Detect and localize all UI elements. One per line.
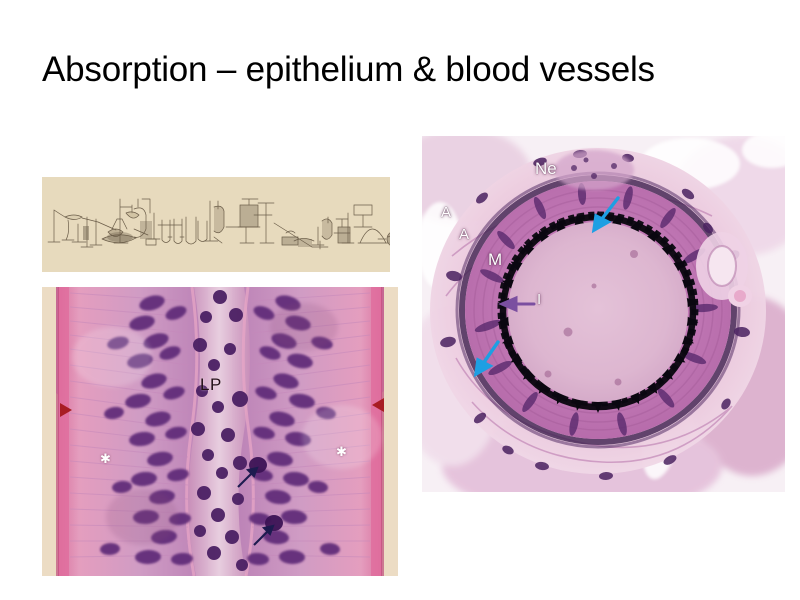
arrowhead-right-marker bbox=[372, 398, 384, 412]
asterisk-right-marker: ✱ bbox=[336, 448, 347, 456]
epithelium-micrograph-figure: LP ✱ ✱ bbox=[42, 287, 398, 576]
arrowhead-left-marker bbox=[60, 403, 72, 417]
apparatus-diagram-figure bbox=[42, 177, 390, 272]
asterisk-left-marker: ✱ bbox=[100, 455, 111, 463]
epithelium-tissue-render bbox=[42, 287, 398, 576]
apparatus-line-drawing bbox=[42, 177, 390, 272]
artery-tissue-render bbox=[422, 136, 785, 492]
artery-micrograph-figure: Ne A A M I bbox=[422, 136, 785, 492]
page-title: Absorption – epithelium & blood vessels bbox=[42, 48, 772, 92]
epithelium-canvas bbox=[42, 287, 398, 576]
